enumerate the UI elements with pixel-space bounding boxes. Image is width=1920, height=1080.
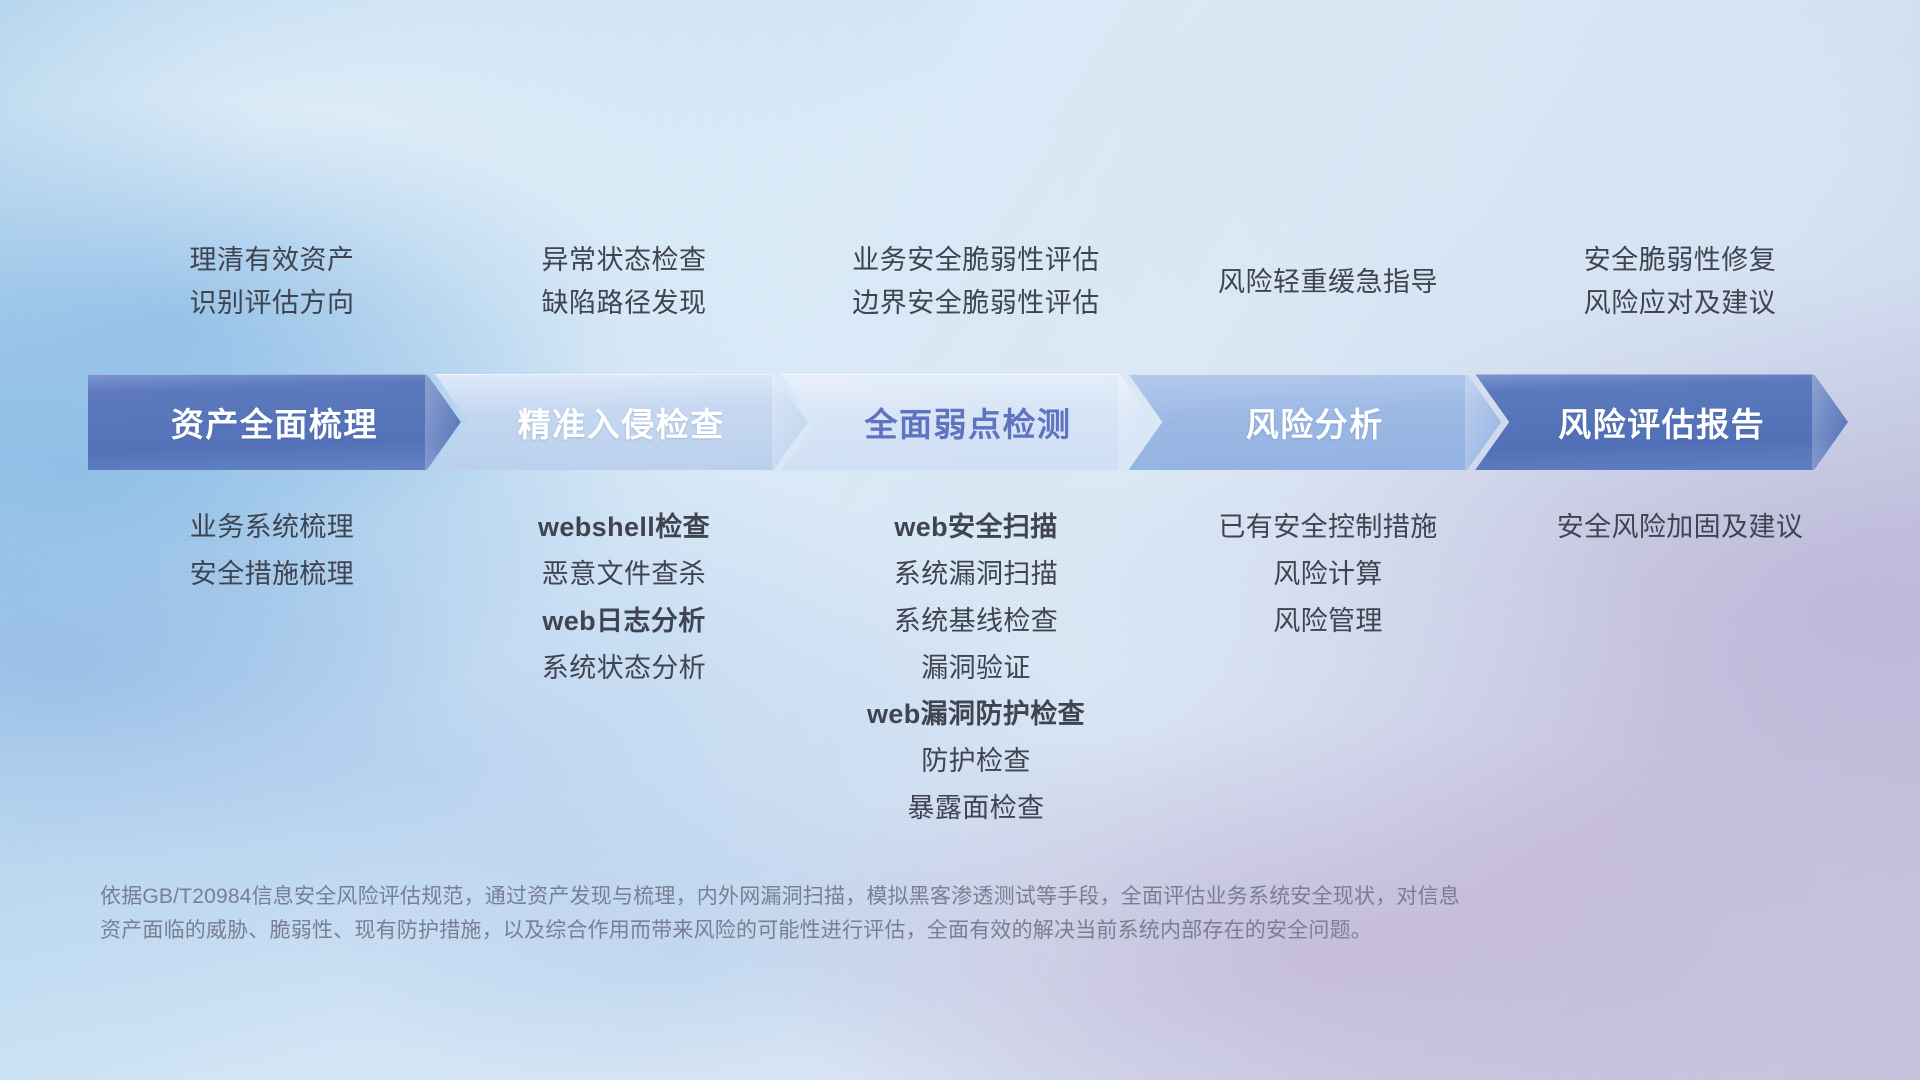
stage-chevron-risk-report[interactable]: 风险评估报告 [1475,374,1848,470]
top-annotation-item: 安全脆弱性修复 [1584,247,1777,274]
task-list-intrusion-check: webshell检查恶意文件查杀web日志分析系统状态分析 [448,512,800,684]
stage-chevron-bar: 资产全面梳理精准入侵检查全面弱点检测风险分析风险评估报告 [88,374,1848,470]
bottom-task-lists-row: 业务系统梳理安全措施梳理webshell检查恶意文件查杀web日志分析系统状态分… [96,512,1856,825]
task-list-item: 暴露面检查 [908,793,1045,825]
task-list-item: web安全扫描 [894,512,1057,544]
stage-chevron-risk-analysis[interactable]: 风险分析 [1128,374,1501,470]
stage-label: 资产全面梳理 [171,398,378,446]
task-list-item: 系统漏洞扫描 [894,559,1058,591]
stage-chevron-asset-inventory[interactable]: 资产全面梳理 [88,374,461,470]
stage-chevron-intrusion-check[interactable]: 精准入侵检查 [435,374,808,470]
top-annotation-item: 风险应对及建议 [1584,290,1777,317]
footer-description: 依据GB/T20984信息安全风险评估规范，通过资产发现与梳理，内外网漏洞扫描，… [100,880,1640,948]
top-annotation-group-risk-report: 安全脆弱性修复风险应对及建议 [1504,222,1856,342]
task-list-item: web日志分析 [542,606,705,638]
stage-label: 精准入侵检查 [518,398,725,446]
task-list-asset-inventory: 业务系统梳理安全措施梳理 [96,512,448,591]
task-list-item: web漏洞防护检查 [867,699,1085,731]
top-annotation-item: 风险轻重缓急指导 [1218,269,1438,296]
stage-chevron-weakness-detection[interactable]: 全面弱点检测 [782,374,1155,470]
task-list-item: 安全风险加固及建议 [1557,512,1804,544]
task-list-item: 恶意文件查杀 [542,559,706,591]
task-list-item: 业务系统梳理 [190,512,354,544]
top-annotation-group-intrusion-check: 异常状态检查缺陷路径发现 [448,222,800,342]
top-annotation-group-weakness-detection: 业务安全脆弱性评估边界安全脆弱性评估 [800,222,1152,342]
top-annotation-item: 识别评估方向 [190,290,355,317]
diagram-canvas: 理清有效资产识别评估方向异常状态检查缺陷路径发现业务安全脆弱性评估边界安全脆弱性… [0,0,1920,1080]
task-list-item: 风险管理 [1273,606,1383,638]
footer-line-2: 资产面临的威胁、脆弱性、现有防护措施，以及综合作用而带来风险的可能性进行评估，全… [100,914,1640,948]
task-list-risk-report: 安全风险加固及建议 [1504,512,1856,544]
task-list-item: 安全措施梳理 [190,559,354,591]
stage-label: 风险评估报告 [1558,398,1765,446]
task-list-item: 防护检查 [921,746,1031,778]
footer-line-1: 依据GB/T20984信息安全风险评估规范，通过资产发现与梳理，内外网漏洞扫描，… [100,880,1640,914]
top-annotation-group-risk-analysis: 风险轻重缓急指导 [1152,222,1504,342]
top-annotation-item: 业务安全脆弱性评估 [852,247,1100,274]
top-annotation-item: 理清有效资产 [190,247,355,274]
top-annotations-row: 理清有效资产识别评估方向异常状态检查缺陷路径发现业务安全脆弱性评估边界安全脆弱性… [96,222,1856,342]
top-annotation-group-asset-inventory: 理清有效资产识别评估方向 [96,222,448,342]
task-list-item: 漏洞验证 [921,653,1031,685]
task-list-item: webshell检查 [538,512,710,544]
stage-label: 全面弱点检测 [864,398,1071,446]
task-list-item: 已有安全控制措施 [1218,512,1437,544]
task-list-weakness-detection: web安全扫描系统漏洞扫描系统基线检查漏洞验证web漏洞防护检查防护检查暴露面检… [800,512,1152,825]
top-annotation-item: 异常状态检查 [542,247,707,274]
task-list-risk-analysis: 已有安全控制措施风险计算风险管理 [1152,512,1504,638]
task-list-item: 系统状态分析 [542,653,706,685]
task-list-item: 系统基线检查 [894,606,1058,638]
task-list-item: 风险计算 [1273,559,1383,591]
top-annotation-item: 缺陷路径发现 [542,290,707,317]
stage-label: 风险分析 [1246,398,1384,446]
top-annotation-item: 边界安全脆弱性评估 [852,290,1100,317]
